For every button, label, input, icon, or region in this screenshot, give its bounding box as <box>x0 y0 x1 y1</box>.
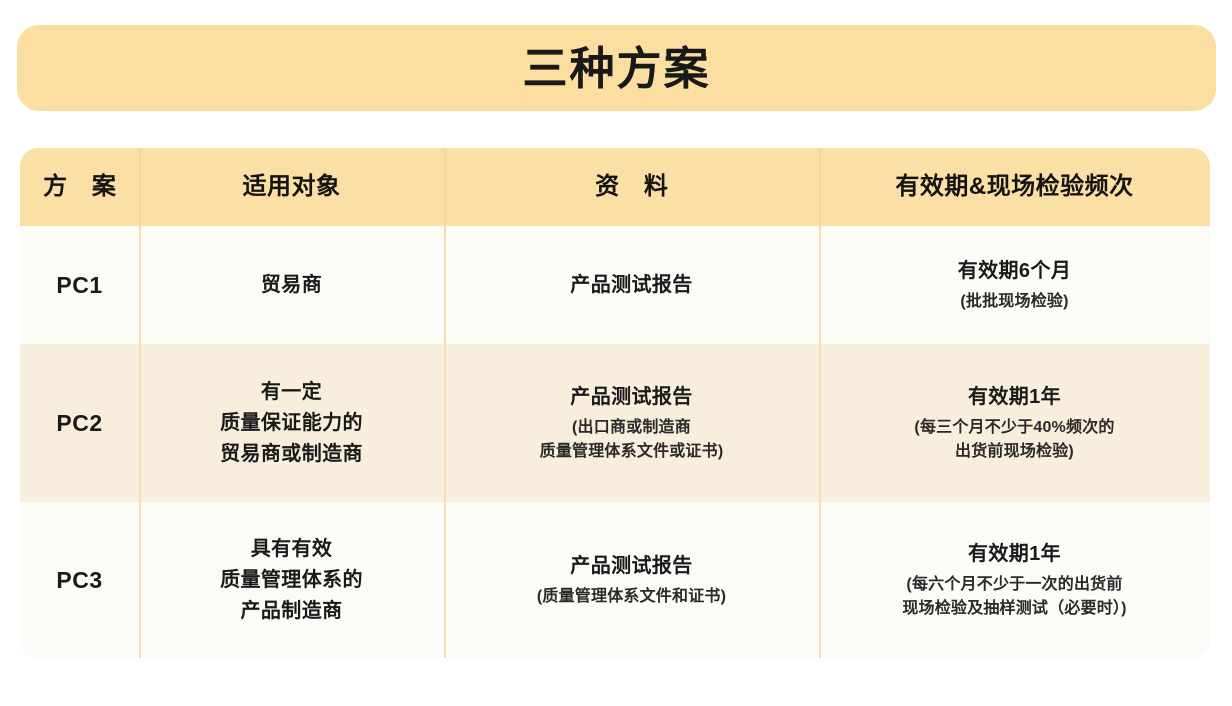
header-label-validity: 有效期&现场检验频次 <box>895 173 1133 202</box>
plan-label: PC2 <box>56 410 102 437</box>
text-line: 有一定 <box>220 377 363 408</box>
page-title: 三种方案 <box>522 46 710 91</box>
validity-main: 有效期1年 <box>968 382 1061 413</box>
text-line: 产品测试报告 <box>570 382 692 413</box>
plan-label: PC1 <box>56 272 102 299</box>
text-line: 有效期1年 <box>968 382 1061 413</box>
text-line: 贸易商 <box>261 270 322 301</box>
validity-sub: (批批现场检验) <box>960 290 1068 314</box>
text-line: 现场检验及抽样测试（必要时）) <box>902 597 1126 621</box>
text-line: 具有有效 <box>220 534 363 565</box>
header-label-plan: 方 案 <box>34 173 125 202</box>
header-label-target: 适用对象 <box>243 173 341 202</box>
cell-plan: PC3 <box>20 502 139 658</box>
text-line: 质量管理体系的 <box>220 565 363 596</box>
cell-target: 具有有效质量管理体系的产品制造商 <box>139 502 444 658</box>
text-line: 产品制造商 <box>220 596 363 627</box>
text-line: 有效期1年 <box>968 539 1061 570</box>
cell-plan: PC2 <box>20 344 139 502</box>
cell-plan: PC1 <box>20 226 139 344</box>
target-main: 具有有效质量管理体系的产品制造商 <box>220 534 363 627</box>
table-row: PC2 有一定质量保证能力的贸易商或制造商 产品测试报告 (出口商或制造商质量管… <box>20 344 1210 502</box>
text-line: 产品测试报告 <box>570 551 692 582</box>
cell-materials: 产品测试报告 <box>444 226 819 344</box>
cell-validity: 有效期6个月 (批批现场检验) <box>819 226 1210 344</box>
header-label-materials: 资 料 <box>586 173 677 202</box>
header-cell-validity: 有效期&现场检验频次 <box>819 148 1210 226</box>
title-banner: 三种方案 <box>17 25 1216 111</box>
text-line: 质量保证能力的 <box>220 408 363 439</box>
cell-validity: 有效期1年 (每三个月不少于40%频次的出货前现场检验) <box>819 344 1210 502</box>
plans-table: 方 案 适用对象 资 料 有效期&现场检验频次 PC1 贸易商 产品测试报告 <box>20 148 1210 658</box>
page-root: 三种方案 方 案 适用对象 资 料 有效期&现场检验频次 PC1 贸易商 <box>0 0 1232 706</box>
validity-main: 有效期6个月 <box>958 256 1072 287</box>
text-line: 出货前现场检验) <box>914 440 1114 464</box>
text-line: (每三个月不少于40%频次的 <box>914 416 1114 440</box>
text-line: (质量管理体系文件和证书) <box>537 585 726 609</box>
header-cell-target: 适用对象 <box>139 148 444 226</box>
header-cell-materials: 资 料 <box>444 148 819 226</box>
text-line: (批批现场检验) <box>960 290 1068 314</box>
materials-main: 产品测试报告 <box>570 551 692 582</box>
materials-main: 产品测试报告 <box>570 382 692 413</box>
target-main: 有一定质量保证能力的贸易商或制造商 <box>220 377 363 470</box>
text-line: (出口商或制造商 <box>540 416 724 440</box>
cell-target: 贸易商 <box>139 226 444 344</box>
text-line: 质量管理体系文件或证书) <box>540 440 724 464</box>
cell-materials: 产品测试报告 (出口商或制造商质量管理体系文件或证书) <box>444 344 819 502</box>
cell-materials: 产品测试报告 (质量管理体系文件和证书) <box>444 502 819 658</box>
cell-validity: 有效期1年 (每六个月不少于一次的出货前现场检验及抽样测试（必要时）) <box>819 502 1210 658</box>
validity-sub: (每六个月不少于一次的出货前现场检验及抽样测试（必要时）) <box>902 573 1126 621</box>
cell-target: 有一定质量保证能力的贸易商或制造商 <box>139 344 444 502</box>
text-line: 有效期6个月 <box>958 256 1072 287</box>
header-cell-plan: 方 案 <box>20 148 139 226</box>
table-header-row: 方 案 适用对象 资 料 有效期&现场检验频次 <box>20 148 1210 226</box>
table-row: PC1 贸易商 产品测试报告 有效期6个月 (批批现场检验) <box>20 226 1210 344</box>
plan-label: PC3 <box>56 567 102 594</box>
validity-sub: (每三个月不少于40%频次的出货前现场检验) <box>914 416 1114 464</box>
materials-sub: (质量管理体系文件和证书) <box>537 585 726 609</box>
table-row: PC3 具有有效质量管理体系的产品制造商 产品测试报告 (质量管理体系文件和证书… <box>20 502 1210 658</box>
text-line: 贸易商或制造商 <box>220 439 363 470</box>
text-line: (每六个月不少于一次的出货前 <box>902 573 1126 597</box>
validity-main: 有效期1年 <box>968 539 1061 570</box>
target-main: 贸易商 <box>261 270 322 301</box>
materials-main: 产品测试报告 <box>570 270 692 301</box>
text-line: 产品测试报告 <box>570 270 692 301</box>
materials-sub: (出口商或制造商质量管理体系文件或证书) <box>540 416 724 464</box>
